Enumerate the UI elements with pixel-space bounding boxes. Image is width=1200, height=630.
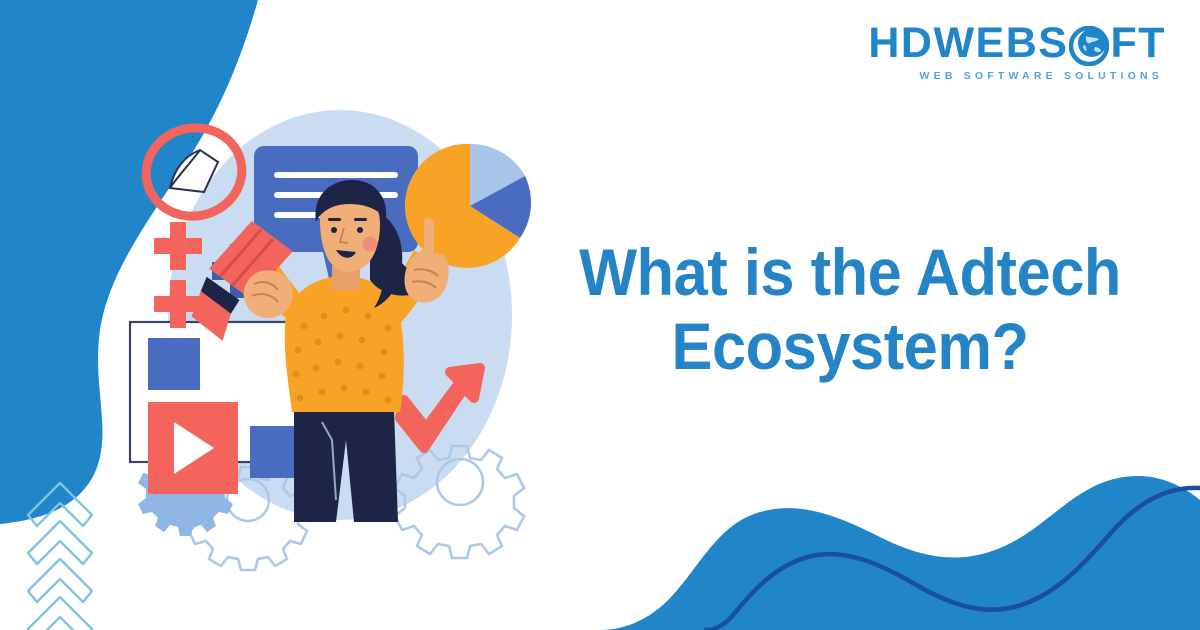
blue-square-top [148,338,200,390]
page-title: What is the Adtech Ecosystem? [562,236,1139,384]
headline-line-1: What is the Adtech [579,235,1121,309]
chevron-up-icon [28,559,92,602]
logo-wordmark: HDWEBS FT [868,22,1166,65]
chevron-up-stack [28,483,92,630]
blue-wave-shape [600,476,1200,630]
headline-line-2: Ecosystem? [562,310,1139,384]
globe-icon [1069,26,1109,66]
chevron-up-icon [28,521,92,564]
logo-text-after: FT [1110,22,1166,65]
logo-tagline: WEB SOFTWARE SOLUTIONS [868,71,1166,82]
adtech-marketing-illustration [108,110,548,550]
left-hand [244,270,293,318]
brand-logo[interactable]: HDWEBS FT WEB SOFTWARE SOLUTIONS [868,22,1166,82]
poster-canvas: HDWEBS FT WEB SOFTWARE SOLUTIONS What is… [0,0,1200,630]
logo-text-before: HDWEBS [868,22,1068,65]
navy-line-wave [706,488,1200,630]
chevron-up-icon [28,597,92,630]
blue-blob-accent [0,388,41,506]
chevron-up-icon [28,483,92,526]
